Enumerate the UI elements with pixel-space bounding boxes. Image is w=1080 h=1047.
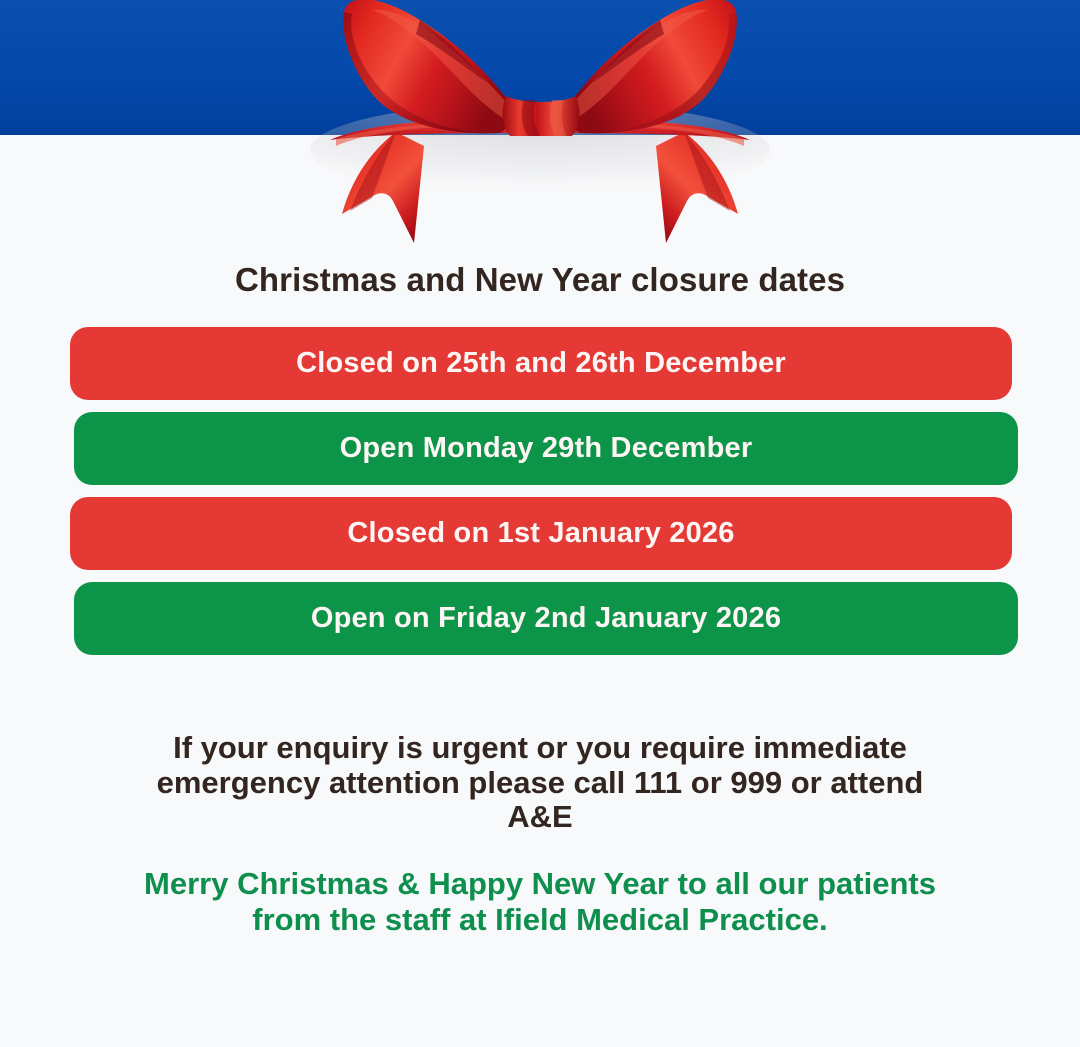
urgent-notice-line-3: A&E <box>40 800 1040 835</box>
greeting-line-1: Merry Christmas & Happy New Year to all … <box>30 866 1050 902</box>
ribbon-tail-right <box>656 132 738 243</box>
blue-banner-fill <box>0 0 1080 135</box>
urgent-notice-line-1: If your enquiry is urgent or you require… <box>40 731 1040 766</box>
ribbon-tail-left <box>342 132 424 243</box>
status-bar-open-2-january: Open on Friday 2nd January 2026 <box>74 582 1018 655</box>
seasonal-greeting: Merry Christmas & Happy New Year to all … <box>30 866 1050 937</box>
christmas-closure-poster: Christmas and New Year closure dates Clo… <box>0 0 1080 1047</box>
status-bar-open-29-december: Open Monday 29th December <box>74 412 1018 485</box>
top-blue-banner <box>0 0 1080 135</box>
urgent-notice: If your enquiry is urgent or you require… <box>40 731 1040 835</box>
greeting-line-2: from the staff at Ifield Medical Practic… <box>30 902 1050 938</box>
closure-dates-list: Closed on 25th and 26th December Open Mo… <box>0 327 1080 667</box>
urgent-notice-line-2: emergency attention please call 111 or 9… <box>40 766 1040 801</box>
status-bar-closed-1-january: Closed on 1st January 2026 <box>70 497 1012 570</box>
page-title: Christmas and New Year closure dates <box>0 262 1080 298</box>
status-bar-closed-25-26-december: Closed on 25th and 26th December <box>70 327 1012 400</box>
